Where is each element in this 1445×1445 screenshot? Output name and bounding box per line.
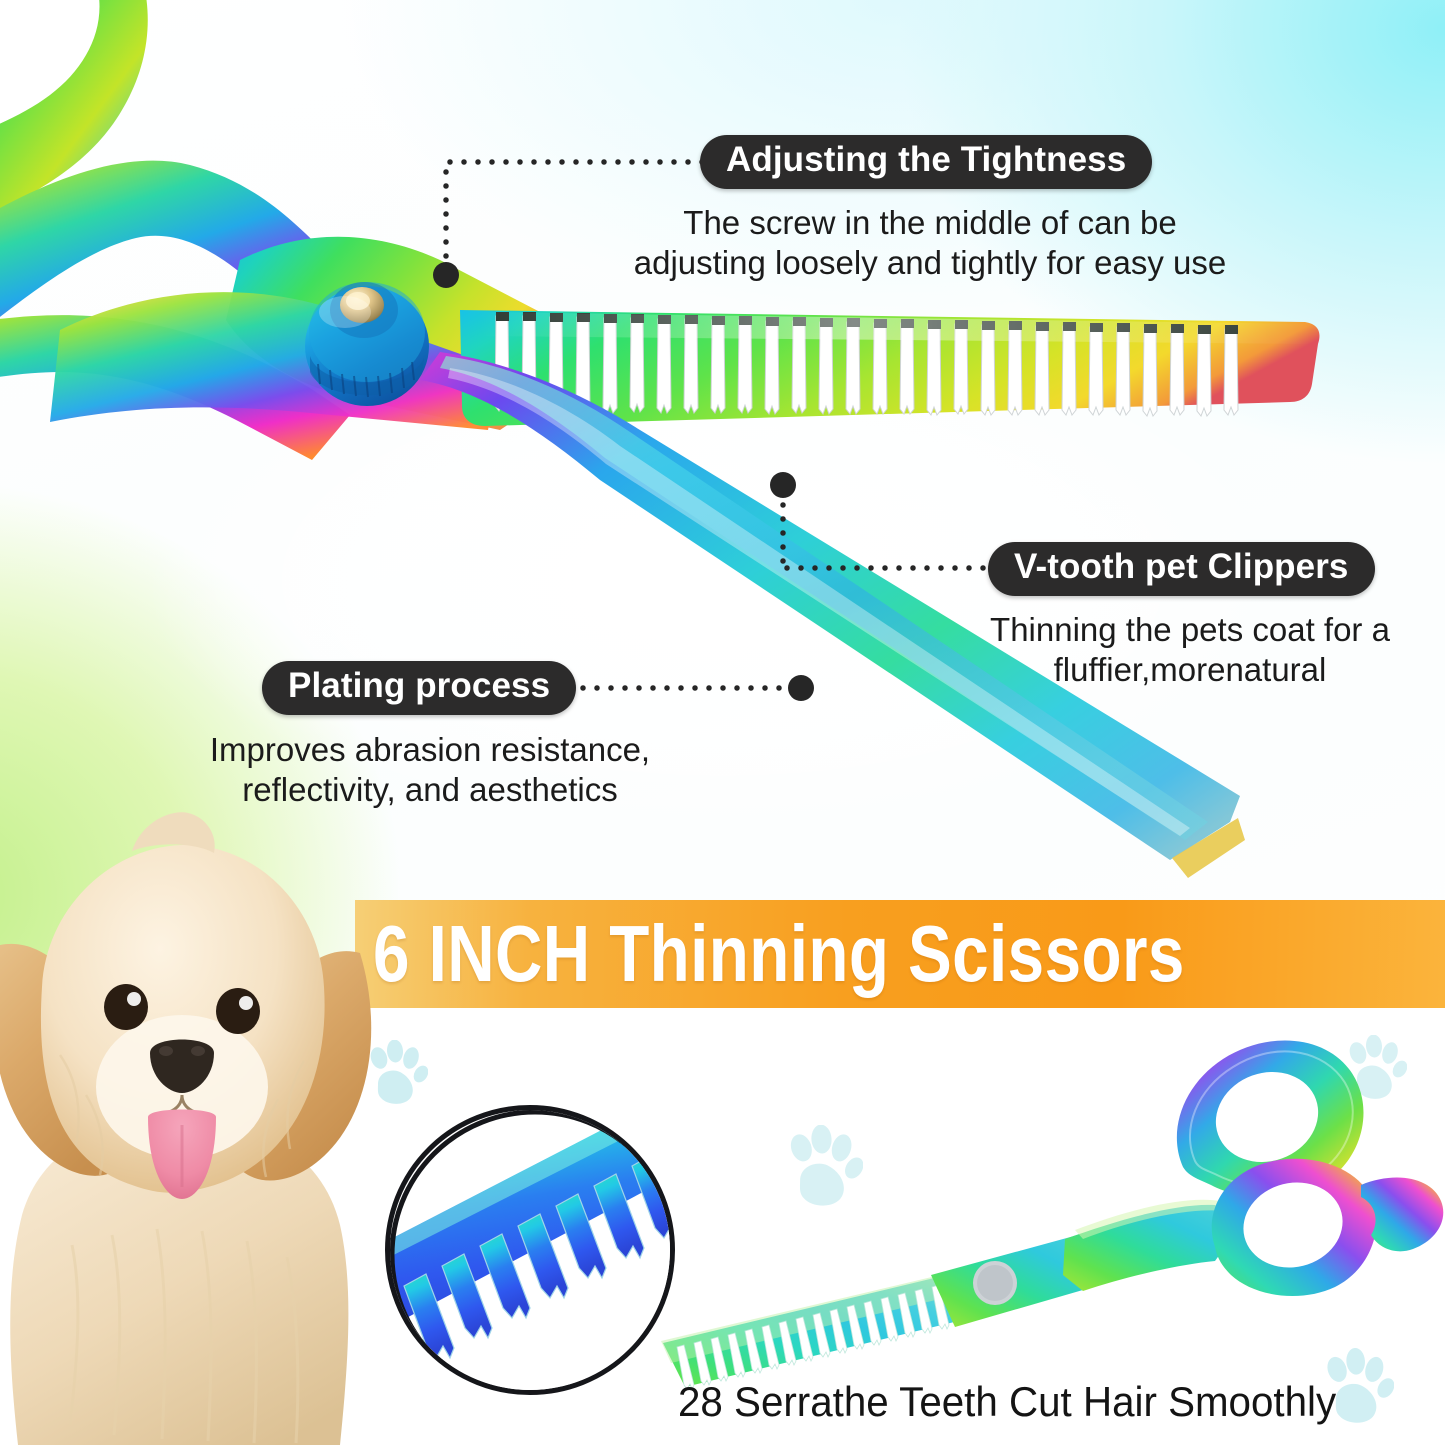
callout-description-adjusting-tightness: The screw in the middle of can be adjust… <box>580 203 1280 282</box>
callout-badge-plating-process[interactable]: Plating process <box>262 661 576 715</box>
callout-connector-horizontal-tightness <box>443 159 733 165</box>
puppy-photo <box>0 795 382 1445</box>
full-scissors-product-image <box>655 1025 1445 1395</box>
product-infographic: Adjusting the Tightness The screw in the… <box>0 0 1445 1445</box>
paw-print-icon <box>366 1040 428 1108</box>
callout-connector-vertical-tightness <box>443 165 449 269</box>
product-title-text: 6 INCH Thinning Scissors <box>355 914 1185 994</box>
callout-anchor-dot-vtooth <box>770 472 796 498</box>
scissors-thinning-blade <box>661 1271 975 1389</box>
callout-badge-adjusting-tightness[interactable]: Adjusting the Tightness <box>700 135 1152 189</box>
bottom-caption-text: 28 Serrathe Teeth Cut Hair Smoothly <box>678 1378 1336 1426</box>
callout-connector-horizontal-plating <box>548 685 798 691</box>
product-title-banner: 6 INCH Thinning Scissors <box>355 900 1445 1008</box>
callout-connector-horizontal-vtooth <box>780 565 995 571</box>
callout-badge-v-tooth-pet-clippers[interactable]: V-tooth pet Clippers <box>988 542 1375 596</box>
callout-description-v-tooth-pet-clippers: Thinning the pets coat for a fluffier,mo… <box>960 610 1420 689</box>
magnified-comb-circle <box>385 1105 675 1395</box>
adjustment-screw-icon <box>305 282 429 406</box>
callout-connector-vertical-vtooth <box>780 498 786 568</box>
scissors-lower-ring <box>1212 1159 1444 1296</box>
